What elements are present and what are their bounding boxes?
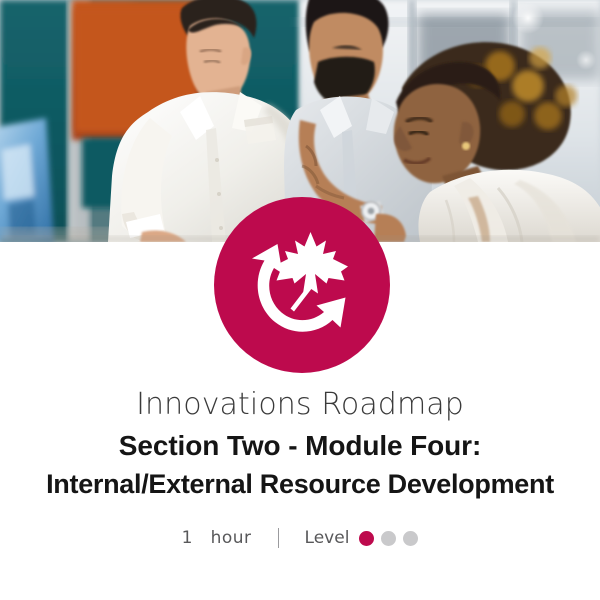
level-indicator	[359, 531, 418, 546]
course-text-block: Innovations Roadmap Section Two - Module…	[0, 386, 600, 502]
course-meta-row: 1 hour Level	[0, 528, 600, 548]
meta-divider	[278, 528, 279, 548]
course-title-card: Innovations Roadmap Section Two - Module…	[0, 0, 600, 600]
duration-label: 1 hour	[182, 528, 252, 548]
maple-leaf-cycle-arrow-icon	[240, 223, 364, 347]
level-dot-2	[381, 531, 396, 546]
brand-logo-badge	[214, 197, 390, 373]
level-dot-3	[403, 531, 418, 546]
page-title: Section Two - Module Four:	[0, 427, 600, 465]
program-name: Innovations Roadmap	[0, 386, 600, 424]
level-label: Level	[305, 528, 350, 548]
page-subtitle: Internal/External Resource Development	[0, 466, 600, 502]
level-dot-1	[359, 531, 374, 546]
